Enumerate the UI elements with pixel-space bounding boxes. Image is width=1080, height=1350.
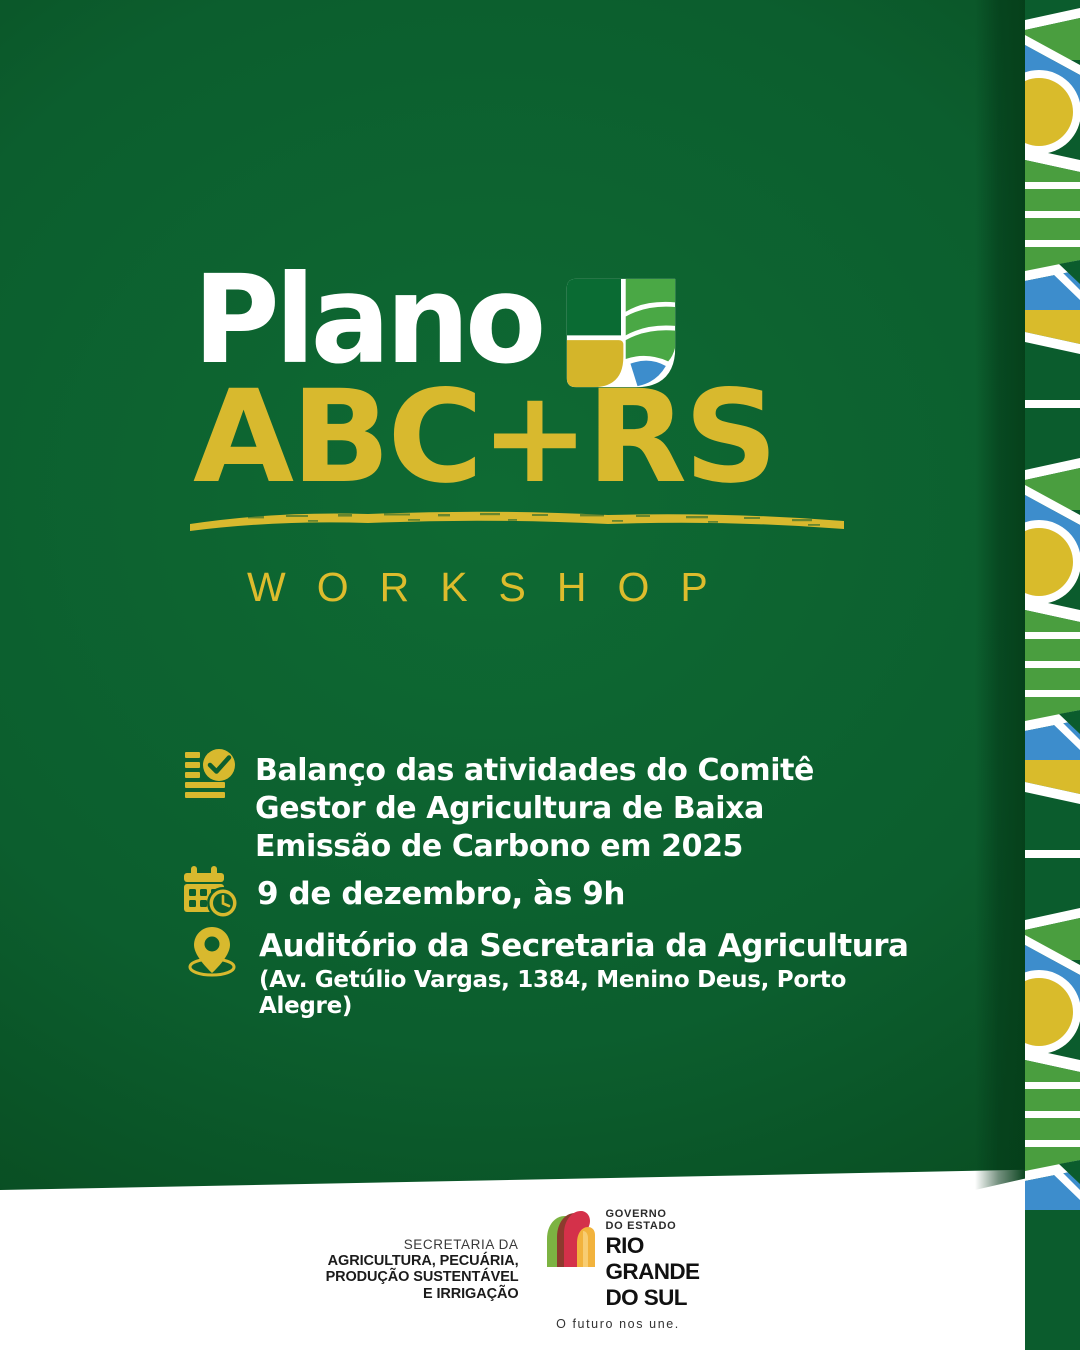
topic-line-1: Balanço das atividades do Comitê <box>255 752 814 790</box>
logo-subtitle-workshop: WORKSHOP <box>247 564 833 611</box>
location-venue: Auditório da Secretaria da Agricultura <box>259 929 943 963</box>
secretaria-line-4: E IRRIGAÇÃO <box>326 1286 519 1303</box>
event-details: Balanço das atividades do Comitê Gestor … <box>183 748 943 1019</box>
detail-location-text: Auditório da Secretaria da Agricultura (… <box>259 921 943 1019</box>
governo-logo: GOVERNO DO ESTADO RIO GRANDE DO SUL O fu… <box>537 1209 700 1331</box>
topic-line-2: Gestor de Agricultura de Baixa <box>255 790 814 828</box>
detail-date-text: 9 de dezembro, às 9h <box>257 865 625 910</box>
detail-row-topic: Balanço das atividades do Comitê Gestor … <box>183 748 943 865</box>
detail-row-location: Auditório da Secretaria da Agricultura (… <box>183 921 943 1019</box>
checklist-document-icon <box>183 748 239 810</box>
footer-logos: SECRETARIA DA AGRICULTURA, PECUÁRIA, PRO… <box>0 1190 1025 1350</box>
governo-line-4: GRANDE <box>606 1261 700 1284</box>
location-pin-icon <box>187 921 243 983</box>
governo-line-1: GOVERNO <box>606 1209 700 1220</box>
secretaria-line-3: PRODUÇÃO SUSTENTÁVEL <box>326 1269 519 1286</box>
governo-line-2: DO ESTADO <box>606 1221 700 1232</box>
pattern-tile-icon <box>1025 310 1080 760</box>
governo-slogan: O futuro nos une. <box>537 1317 700 1331</box>
location-address: (Av. Getúlio Vargas, 1384, Menino Deus, … <box>259 968 943 1019</box>
logo-word-abcrs: ABC+RS <box>193 374 846 502</box>
pattern-tile-icon <box>1025 0 1080 310</box>
background-edge-shadow <box>975 0 1027 1190</box>
logo-word-plano: Plano <box>193 262 541 379</box>
secretaria-line-2: AGRICULTURA, PECUÁRIA, <box>326 1253 519 1270</box>
secretaria-text: SECRETARIA DA AGRICULTURA, PECUÁRIA, PRO… <box>326 1237 519 1303</box>
rs-faces-emblem-icon <box>537 1209 599 1269</box>
detail-topic-text: Balanço das atividades do Comitê Gestor … <box>255 748 814 865</box>
governo-line-3: RIO <box>606 1235 700 1258</box>
secretaria-logo: SECRETARIA DA AGRICULTURA, PECUÁRIA, PRO… <box>326 1237 519 1303</box>
topic-line-3: Emissão de Carbono em 2025 <box>255 828 814 866</box>
governo-line-5: DO SUL <box>606 1287 700 1310</box>
secretaria-line-1: SECRETARIA DA <box>326 1237 519 1253</box>
pattern-tile-icon <box>1025 760 1080 1210</box>
decorative-pattern-strip <box>1025 0 1080 1350</box>
governo-text: GOVERNO DO ESTADO RIO GRANDE DO SUL <box>606 1209 700 1310</box>
calendar-clock-icon <box>183 865 241 921</box>
detail-row-date: 9 de dezembro, às 9h <box>183 865 943 921</box>
poster-canvas: Plano <box>0 0 1080 1350</box>
